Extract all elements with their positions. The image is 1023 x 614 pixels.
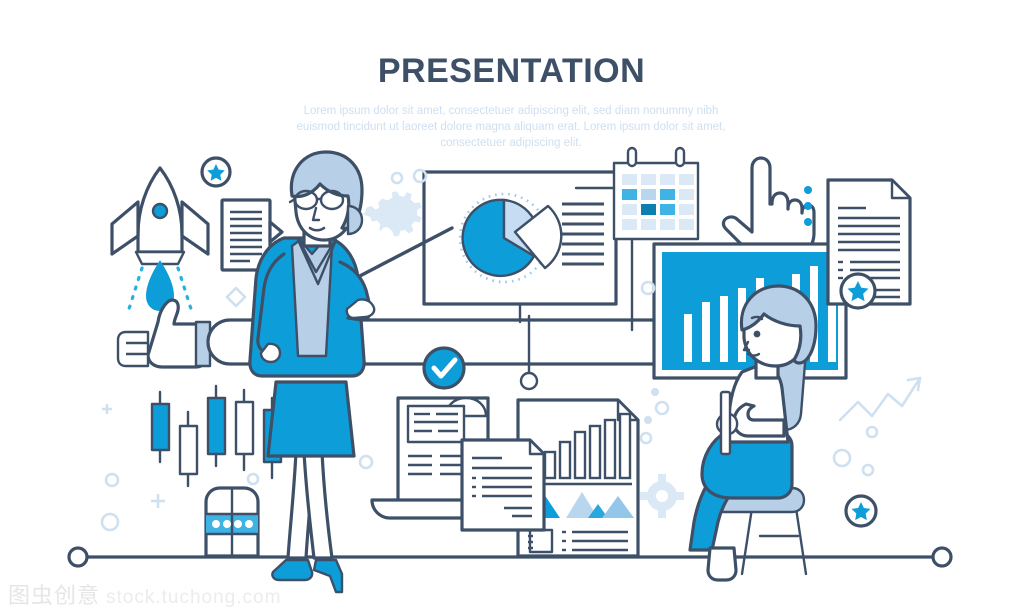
baseline: [69, 548, 951, 566]
document-star-icon: [828, 180, 910, 308]
star-badge-icon: [846, 496, 876, 526]
presentation-illustration: .ol{fill:none;stroke:#3d5068;stroke-widt…: [0, 0, 1023, 614]
diamond-deco-icon: [227, 288, 245, 306]
watermark-cjk: 图虫创意: [8, 583, 100, 608]
candle: [180, 412, 197, 486]
gear-icon: [360, 191, 422, 237]
thumbs-up-icon: [118, 300, 210, 367]
rocket-icon: [112, 168, 208, 312]
woman-presenter: [250, 152, 452, 592]
candle: [152, 392, 169, 462]
candle: [236, 390, 253, 470]
candlestick-chart: [152, 386, 281, 486]
pie-chart: [463, 200, 562, 276]
document-overlay: [462, 440, 544, 530]
illustration-canvas: PRESENTATION Lorem ipsum dolor sit amet,…: [0, 0, 1023, 614]
watermark: 图虫创意stock.tuchong.com: [8, 578, 281, 610]
check-badge-icon: [424, 348, 464, 388]
star-badge-icon: [202, 158, 230, 186]
growth-arrow-icon: [840, 378, 920, 420]
watermark-latin: stock.tuchong.com: [106, 587, 281, 608]
gear-icon: [640, 474, 684, 518]
candle: [208, 386, 225, 466]
whiteboard-pie-chart: [424, 172, 616, 322]
podium-display: [206, 488, 258, 556]
pointing-hand-icon: [723, 158, 814, 257]
